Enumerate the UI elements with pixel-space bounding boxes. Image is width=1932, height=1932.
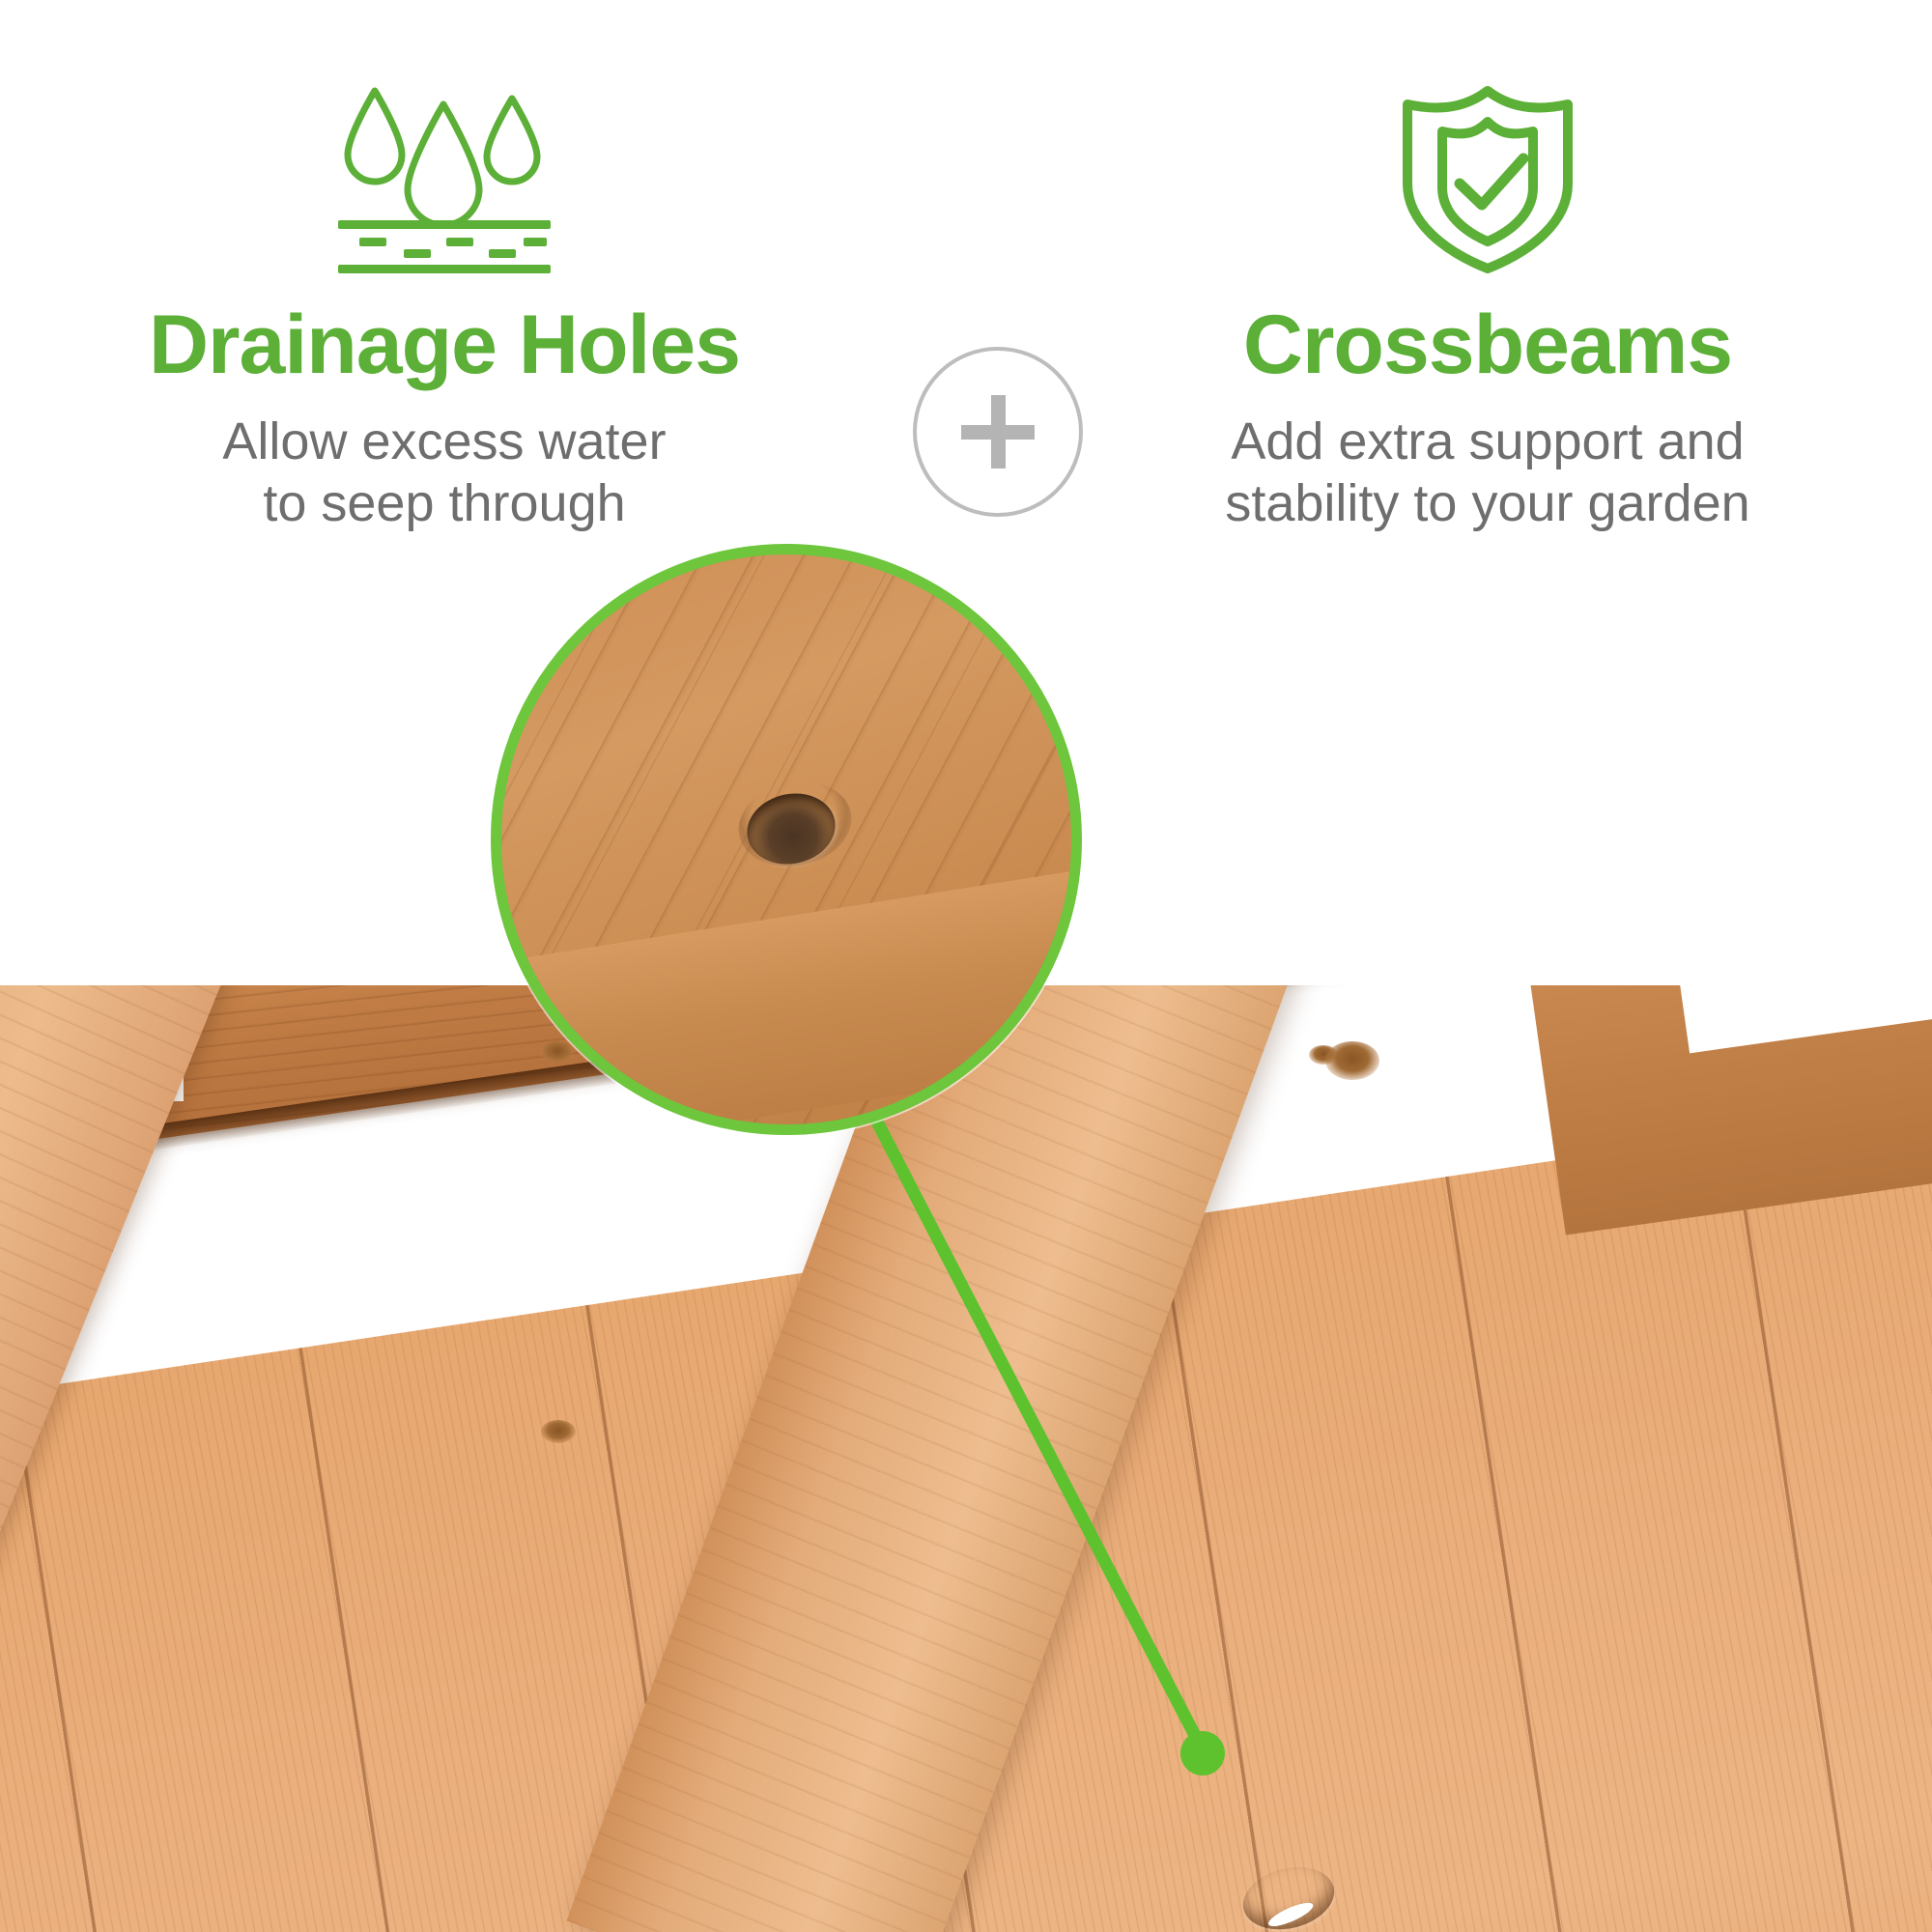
water-droplets-drainage-icon bbox=[319, 75, 570, 278]
feature-subtitle-line: to seep through bbox=[222, 473, 666, 535]
wood-knot bbox=[541, 1420, 576, 1443]
feature-subtitle-line: Add extra support and bbox=[1225, 412, 1749, 473]
feature-band: Drainage Holes Allow excess water to see… bbox=[0, 0, 1932, 676]
feature-subtitle: Add extra support and stability to your … bbox=[1225, 412, 1749, 534]
infographic-canvas: Drainage Holes Allow excess water to see… bbox=[0, 0, 1932, 1932]
plus-icon-vertical-bar bbox=[991, 395, 1006, 469]
feature-title: Crossbeams bbox=[1243, 303, 1732, 386]
shield-check-icon bbox=[1386, 75, 1589, 278]
plus-divider bbox=[913, 347, 1083, 517]
feature-title: Drainage Holes bbox=[149, 303, 740, 386]
feature-subtitle-line: Allow excess water bbox=[222, 412, 666, 473]
product-photo bbox=[0, 985, 1932, 1932]
feature-crossbeams: Crossbeams Add extra support and stabili… bbox=[1072, 0, 1903, 534]
callout-leader-endpoint-dot bbox=[1180, 1731, 1225, 1776]
wood-knot bbox=[1325, 1041, 1379, 1080]
magnifier-callout-drainage-hole bbox=[491, 544, 1082, 1135]
feature-subtitle-line: stability to your garden bbox=[1225, 473, 1749, 535]
feature-subtitle: Allow excess water to seep through bbox=[222, 412, 666, 534]
feature-drainage-holes: Drainage Holes Allow excess water to see… bbox=[29, 0, 860, 534]
